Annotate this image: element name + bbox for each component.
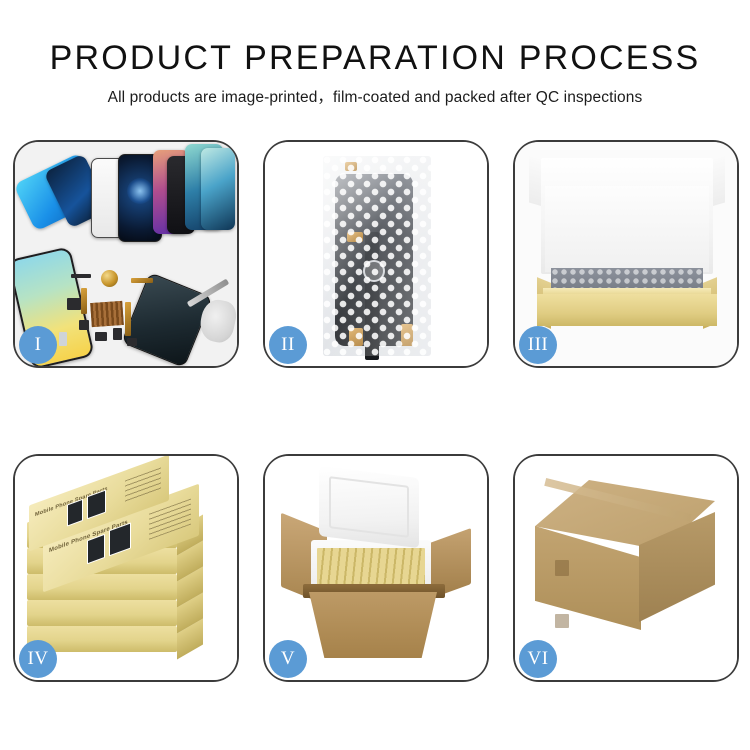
step-badge-5: V [269, 640, 307, 678]
speaker-component [101, 270, 118, 287]
bubble-wrap-pouch [323, 156, 431, 356]
small-part-2 [67, 298, 81, 310]
small-part-5 [113, 328, 122, 340]
flex-cable-1 [131, 278, 153, 283]
film-gloss [323, 156, 431, 356]
carton-label-upper [555, 560, 569, 576]
step-badge-4: IV [19, 640, 57, 678]
small-part-4 [95, 332, 107, 341]
process-step-2: II [263, 140, 489, 368]
step-badge-6: VI [519, 640, 557, 678]
process-step-grid: I [13, 140, 739, 682]
page-subtitle: All products are image-printed，film-coat… [0, 88, 750, 108]
page-title: PRODUCT PREPARATION PROCESS [0, 38, 750, 78]
process-step-1: I [13, 140, 239, 368]
header: PRODUCT PREPARATION PROCESS All products… [0, 38, 750, 108]
logic-board-component [90, 301, 124, 327]
process-step-3: III [513, 140, 739, 368]
phone-rear-housing [121, 272, 213, 366]
carton-label-lower [555, 614, 569, 628]
box-stack: Mobile Phone Spare Parts Mobile Phone Sp… [23, 478, 231, 670]
box-window-1 [87, 534, 105, 565]
box-window-3 [67, 499, 83, 527]
foam-lid [319, 466, 419, 548]
process-step-4: Mobile Phone Spare Parts Mobile Phone Sp… [13, 454, 239, 682]
small-part-7 [59, 332, 67, 346]
small-part-1 [71, 274, 91, 278]
flex-cable-2 [125, 302, 131, 336]
stacked-box-4 [27, 600, 177, 626]
carton-body [309, 592, 437, 658]
foam-sheet [545, 186, 709, 272]
step-badge-3: III [519, 326, 557, 364]
process-step-5: V [263, 454, 489, 682]
packed-yellow-boxes [317, 548, 425, 588]
box-front-panel [537, 294, 717, 326]
box-spec-lines-back [125, 467, 161, 502]
small-part-6 [127, 338, 137, 346]
step-badge-1: I [19, 326, 57, 364]
step-badge-2: II [269, 326, 307, 364]
small-part-3 [79, 320, 89, 330]
flex-cable-3 [81, 288, 87, 314]
process-step-6: VI [513, 454, 739, 682]
product-preparation-infographic: PRODUCT PREPARATION PROCESS All products… [0, 0, 750, 750]
phone-teal-display-2 [201, 148, 235, 230]
